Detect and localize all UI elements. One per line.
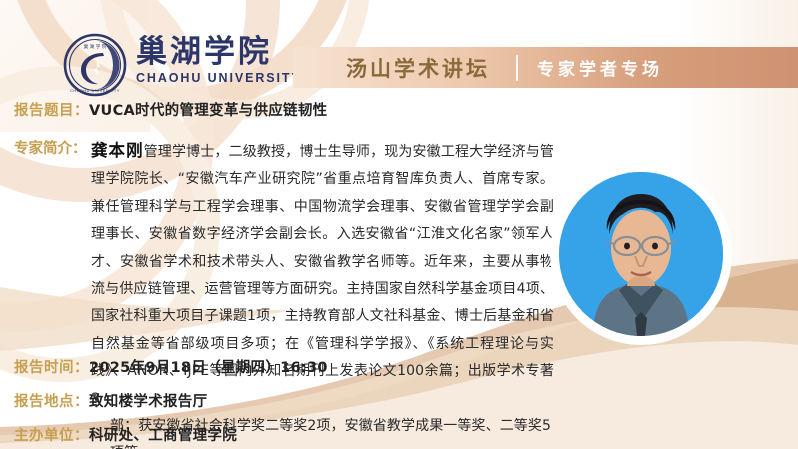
report-place-row: 报告地点： 致知楼学术报告厅 bbox=[14, 390, 207, 411]
speaker-portrait-photo bbox=[559, 172, 723, 336]
university-name-block: 巢湖学院 CHAOHU UNIVERSITY bbox=[136, 35, 308, 85]
speaker-name: 龚本刚 bbox=[91, 141, 144, 160]
university-name-en: CHAOHU UNIVERSITY bbox=[136, 71, 308, 85]
poster-header: 巢 湖 学 院 CHAOHU UNIVERSITY 巢湖学院 CHAOHU UN… bbox=[0, 0, 798, 96]
report-title-label: 报告题目： bbox=[14, 99, 89, 120]
report-place-value: 致知楼学术报告厅 bbox=[89, 390, 207, 411]
organizer-label: 主办单位： bbox=[14, 424, 89, 445]
organizer-row: 主办单位： 科研处、工商管理学院 bbox=[14, 424, 237, 445]
report-place-label: 报告地点： bbox=[14, 390, 89, 411]
university-name-cn: 巢湖学院 bbox=[136, 35, 308, 69]
report-time-value: 2025年9月18日（星期四）16:30 bbox=[89, 356, 328, 377]
report-time-label: 报告时间： bbox=[14, 356, 89, 377]
svg-text:巢 湖 学 院: 巢 湖 学 院 bbox=[84, 43, 107, 50]
speaker-bio-label: 专家简介： bbox=[14, 137, 87, 158]
report-title-value: VUCA时代的管理变革与供应链韧性 bbox=[89, 99, 327, 120]
university-seal-icon: 巢 湖 学 院 CHAOHU UNIVERSITY bbox=[63, 33, 127, 97]
portrait-illustration bbox=[559, 172, 723, 336]
svg-text:CHAOHU UNIVERSITY: CHAOHU UNIVERSITY bbox=[70, 88, 120, 93]
organizer-value: 科研处、工商管理学院 bbox=[89, 424, 237, 445]
seminar-poster: 巢 湖 学 院 CHAOHU UNIVERSITY 巢湖学院 CHAOHU UN… bbox=[0, 0, 798, 449]
lecture-series-banner: 汤山学术讲坛 专家学者专场 bbox=[293, 47, 798, 88]
banner-subtitle: 专家学者专场 bbox=[537, 55, 663, 80]
banner-main-title: 汤山学术讲坛 bbox=[346, 53, 490, 83]
banner-divider bbox=[516, 55, 518, 81]
report-time-row: 报告时间： 2025年9月18日（星期四）16:30 bbox=[14, 356, 328, 377]
report-title-row: 报告题目： VUCA时代的管理变革与供应链韧性 bbox=[14, 99, 327, 120]
speaker-portrait bbox=[555, 168, 727, 340]
